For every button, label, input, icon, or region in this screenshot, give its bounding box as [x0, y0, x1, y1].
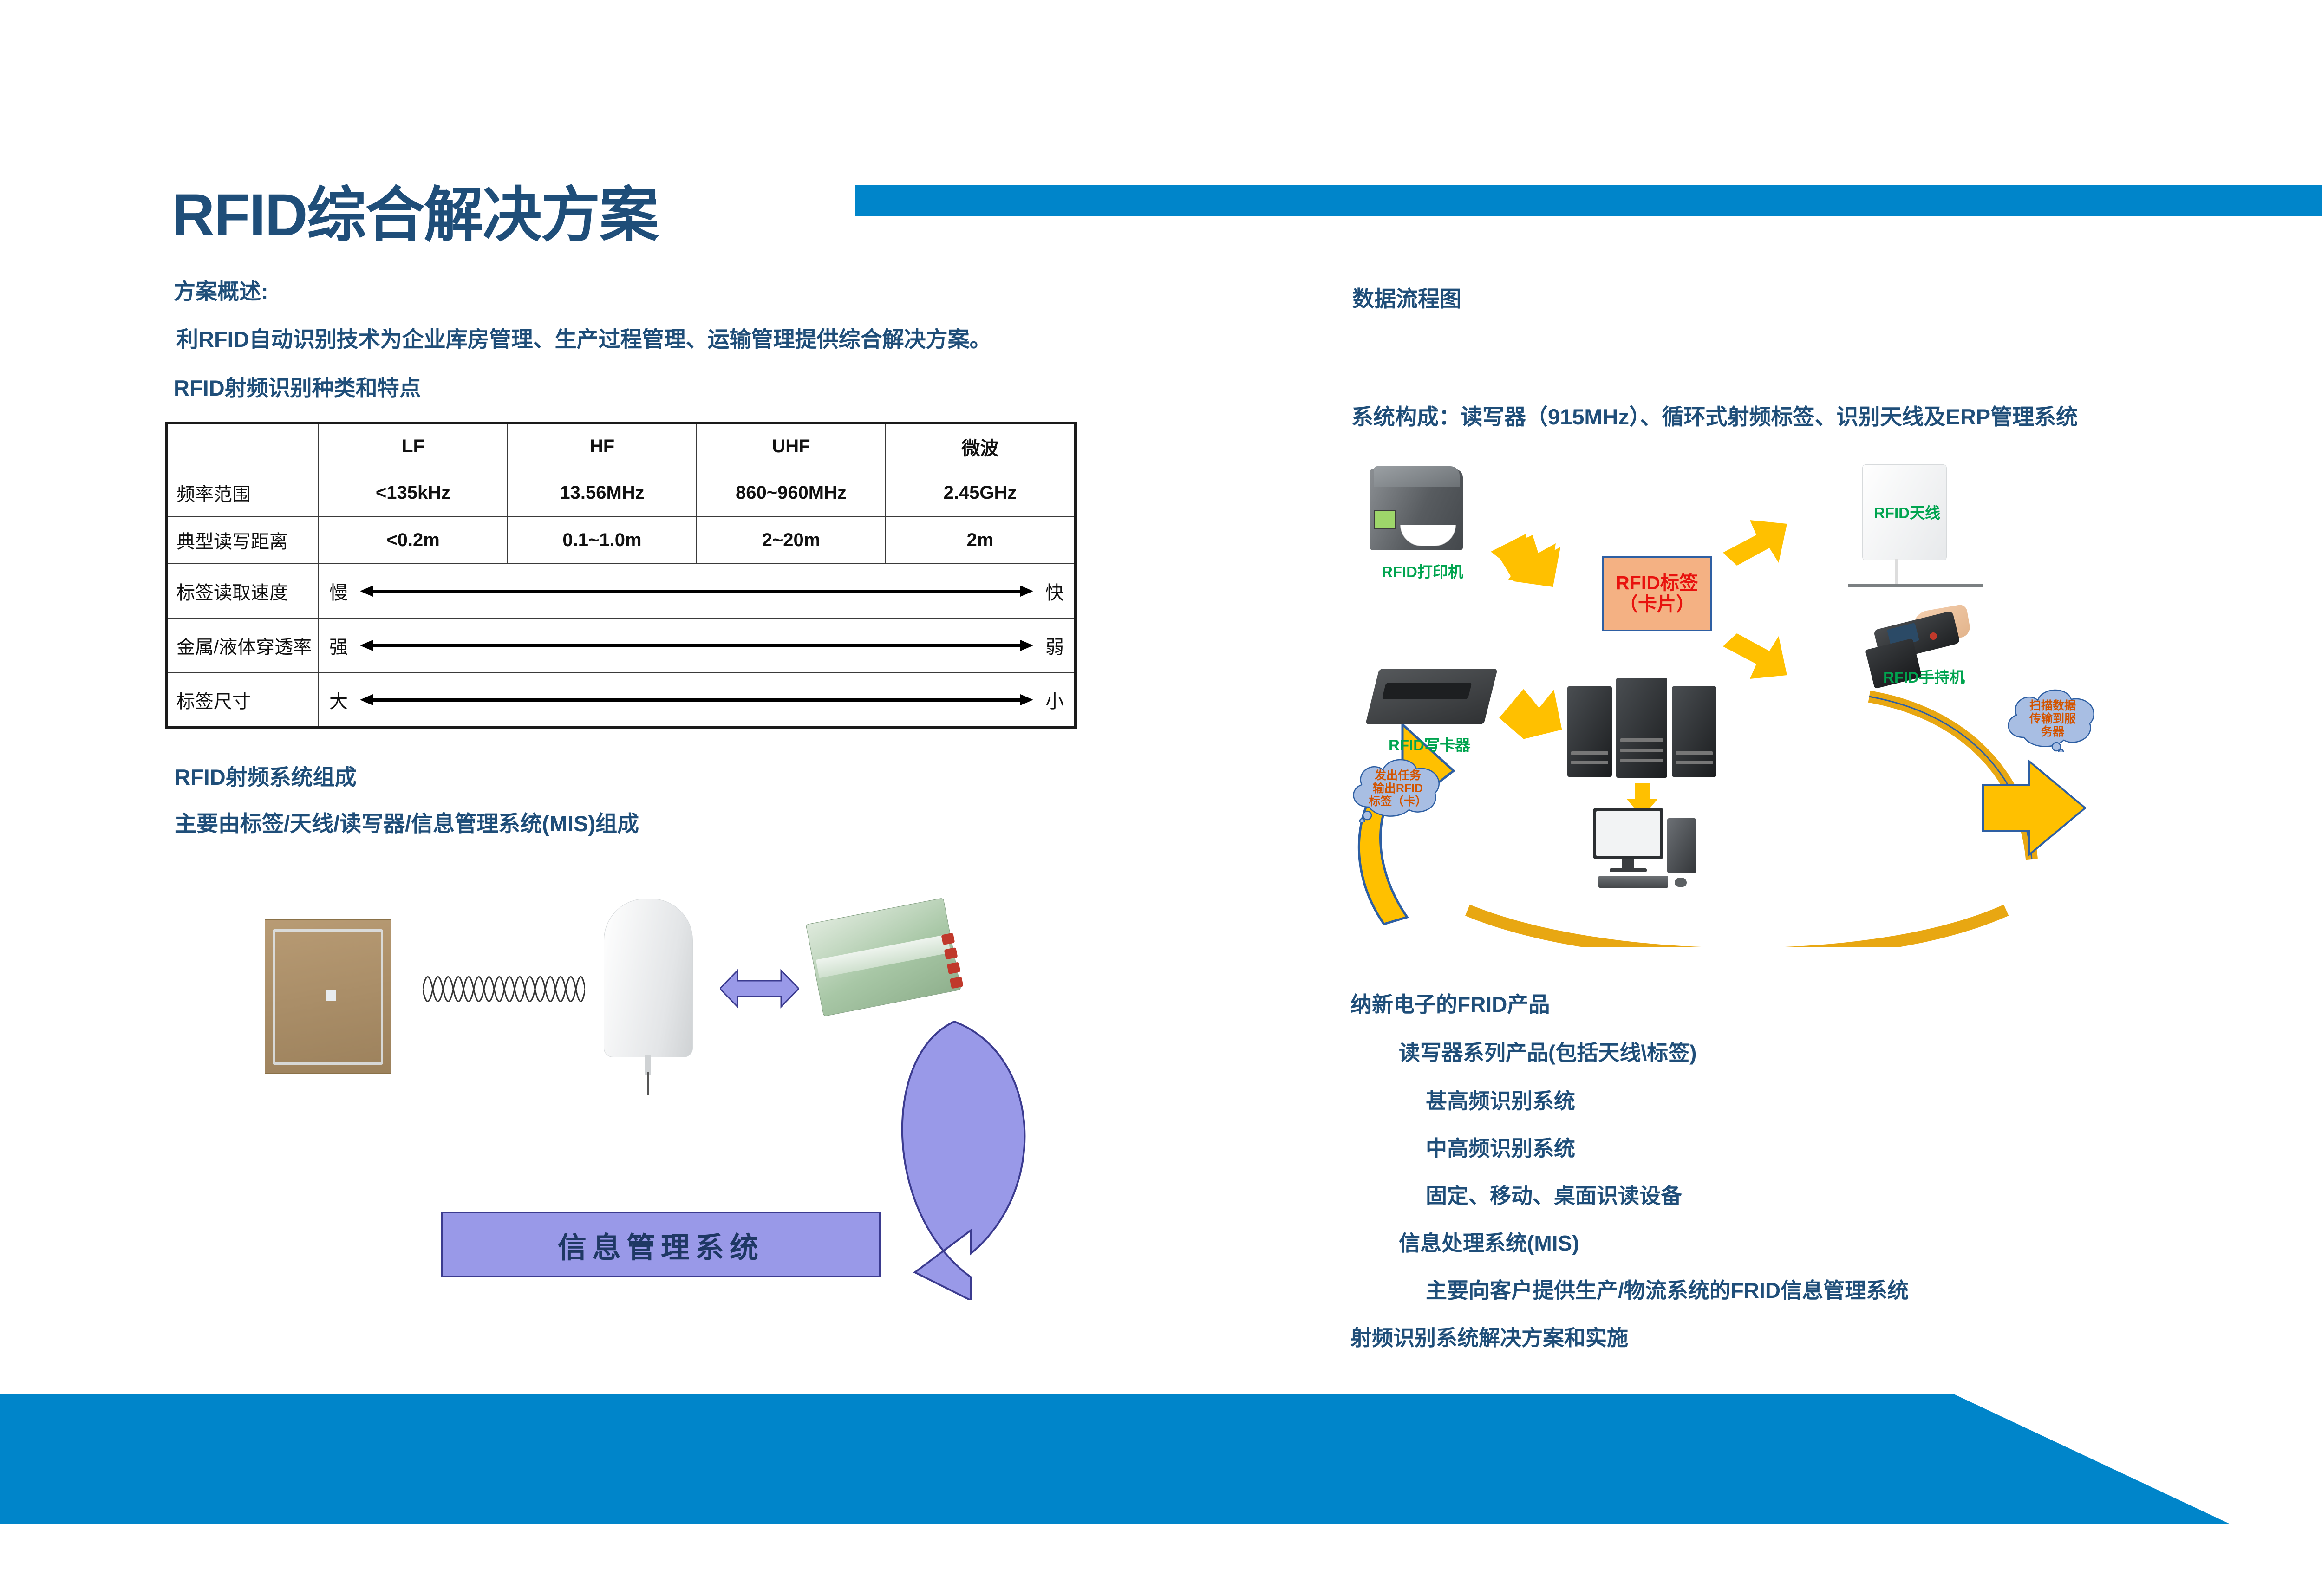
overview-label: 方案概述:	[174, 280, 268, 302]
table-header-uhf: UHF	[697, 423, 886, 469]
double-arrow-icon	[360, 586, 1033, 597]
cloud-callout-left: 发出任务 输出RFID 标签（卡）	[1347, 752, 1449, 822]
curved-arrow-icon	[854, 1012, 1050, 1300]
antenna-mount-icon	[1848, 584, 1983, 587]
penetration-left-label: 强	[329, 632, 348, 659]
cell-frequency-uhf: 860~960MHz	[697, 469, 886, 516]
desktop-computer-photo	[1593, 808, 1704, 892]
tag-size-right-label: 小	[1045, 686, 1064, 713]
server-rack-photo	[1567, 678, 1721, 778]
tag-box-line1: RFID标签	[1616, 573, 1698, 593]
intro-text: 利RFID自动识别技术为企业库房管理、生产过程管理、运输管理提供综合解决方案。	[176, 328, 991, 350]
table-header-row: LF HF UHF 微波	[167, 423, 1076, 469]
table-header-microwave: 微波	[886, 423, 1076, 469]
table-header-hf: HF	[508, 423, 697, 469]
cloud-right-line3: 务器	[2002, 725, 2104, 738]
cell-distance-microwave: 2m	[886, 516, 1076, 564]
cloud-callout-right: 扫描数据 传输到服 务器	[2002, 683, 2104, 752]
top-accent-banner	[855, 185, 2322, 216]
tag-size-scale: 大 小	[319, 672, 1076, 728]
table-row: 频率范围 <135kHz 13.56MHz 860~960MHz 2.45GHz	[167, 469, 1076, 516]
cell-frequency-microwave: 2.45GHz	[886, 469, 1076, 516]
product-bullet-5: 信息处理系统(MIS)	[1399, 1232, 1579, 1254]
radio-wave-icon	[423, 964, 585, 1015]
table-row: 金属/液体穿透率 强 弱	[167, 618, 1076, 672]
read-speed-left-label: 慢	[329, 578, 348, 605]
tag-box-line2: （卡片）	[1619, 594, 1695, 615]
system-composition-text: 系统构成：读写器（915MHz）、循环式射频标签、识别天线及ERP管理系统	[1351, 406, 2078, 428]
cell-distance-lf: <0.2m	[319, 516, 508, 564]
mis-box-label: 信息管理系统	[558, 1224, 764, 1266]
table-row: 标签尺寸 大 小	[167, 672, 1076, 728]
printer-label: RFID打印机	[1382, 560, 1463, 582]
rfid-comparison-table: LF HF UHF 微波 频率范围 <135kHz 13.56MHz 860~9…	[165, 422, 1077, 729]
bidirectional-arrow-icon	[720, 966, 799, 1011]
product-bullet-3: 中高频识别系统	[1426, 1138, 1575, 1159]
cell-distance-hf: 0.1~1.0m	[508, 516, 697, 564]
table-row: 典型读写距离 <0.2m 0.1~1.0m 2~20m 2m	[167, 516, 1076, 564]
product-bullet-6: 主要向客户提供生产/物流系统的FRID信息管理系统	[1426, 1280, 1909, 1301]
cloud-right-line2: 传输到服	[2002, 712, 2104, 725]
product-bullet-1: 读写器系列产品(包括天线\标签)	[1399, 1042, 1696, 1063]
data-flow-diagram: RFID打印机 RFID写卡器 RFID标签 （卡片） RFID天线 RFID手…	[1314, 464, 2150, 947]
penetration-scale: 强 弱	[319, 618, 1076, 672]
writer-label: RFID写卡器	[1389, 733, 1470, 755]
table-header-lf: LF	[319, 423, 508, 469]
double-arrow-icon	[360, 694, 1033, 705]
antenna-cable-icon	[647, 1072, 649, 1095]
compose-detail: 主要由标签/天线/读写器/信息管理系统(MIS)组成	[175, 813, 639, 834]
cell-frequency-hf: 13.56MHz	[508, 469, 697, 516]
antenna-label: RFID天线	[1874, 501, 1940, 523]
product-bullet-7: 射频识别系统解决方案和实施	[1350, 1327, 1628, 1348]
rfid-tag-photo	[265, 919, 391, 1074]
mis-box: 信息管理系统	[441, 1212, 881, 1277]
row-label-distance: 典型读写距离	[167, 516, 319, 564]
tag-chip-icon	[326, 990, 336, 1001]
antenna-cable-icon	[1895, 559, 1898, 586]
tag-size-left-label: 大	[329, 686, 348, 713]
page-title: RFID综合解决方案	[172, 186, 658, 245]
dataflow-heading: 数据流程图	[1352, 288, 1461, 310]
product-bullet-4: 固定、移动、桌面识读设备	[1426, 1185, 1682, 1206]
cell-frequency-lf: <135kHz	[319, 469, 508, 516]
row-label-read-speed: 标签读取速度	[167, 564, 319, 618]
row-label-frequency: 频率范围	[167, 469, 319, 516]
table-row: 标签读取速度 慢 快	[167, 564, 1076, 618]
rfid-antenna-photo	[604, 899, 693, 1057]
read-speed-scale: 慢 快	[319, 564, 1076, 618]
rfid-tag-box: RFID标签 （卡片）	[1602, 556, 1712, 631]
bottom-accent-shape	[0, 1394, 2322, 1524]
product-bullet-2: 甚高频识别系统	[1426, 1090, 1575, 1112]
double-arrow-icon	[360, 640, 1033, 651]
read-speed-right-label: 快	[1045, 578, 1064, 605]
product-bullet-0: 纳新电子的FRID产品	[1350, 994, 1550, 1015]
cell-distance-uhf: 2~20m	[697, 516, 886, 564]
row-label-tag-size: 标签尺寸	[167, 672, 319, 728]
cloud-right-line1: 扫描数据	[2002, 699, 2104, 712]
compose-heading: RFID射频系统组成	[175, 766, 357, 788]
handheld-label: RFID手持机	[1883, 665, 1965, 687]
table-header-blank	[167, 423, 319, 469]
kinds-heading: RFID射频识别种类和特点	[174, 377, 421, 399]
cloud-left-line1: 发出任务	[1347, 769, 1449, 782]
cloud-left-line2: 输出RFID	[1347, 782, 1449, 795]
row-label-penetration: 金属/液体穿透率	[167, 618, 319, 672]
cloud-left-line3: 标签（卡）	[1347, 795, 1449, 808]
penetration-right-label: 弱	[1045, 632, 1064, 659]
